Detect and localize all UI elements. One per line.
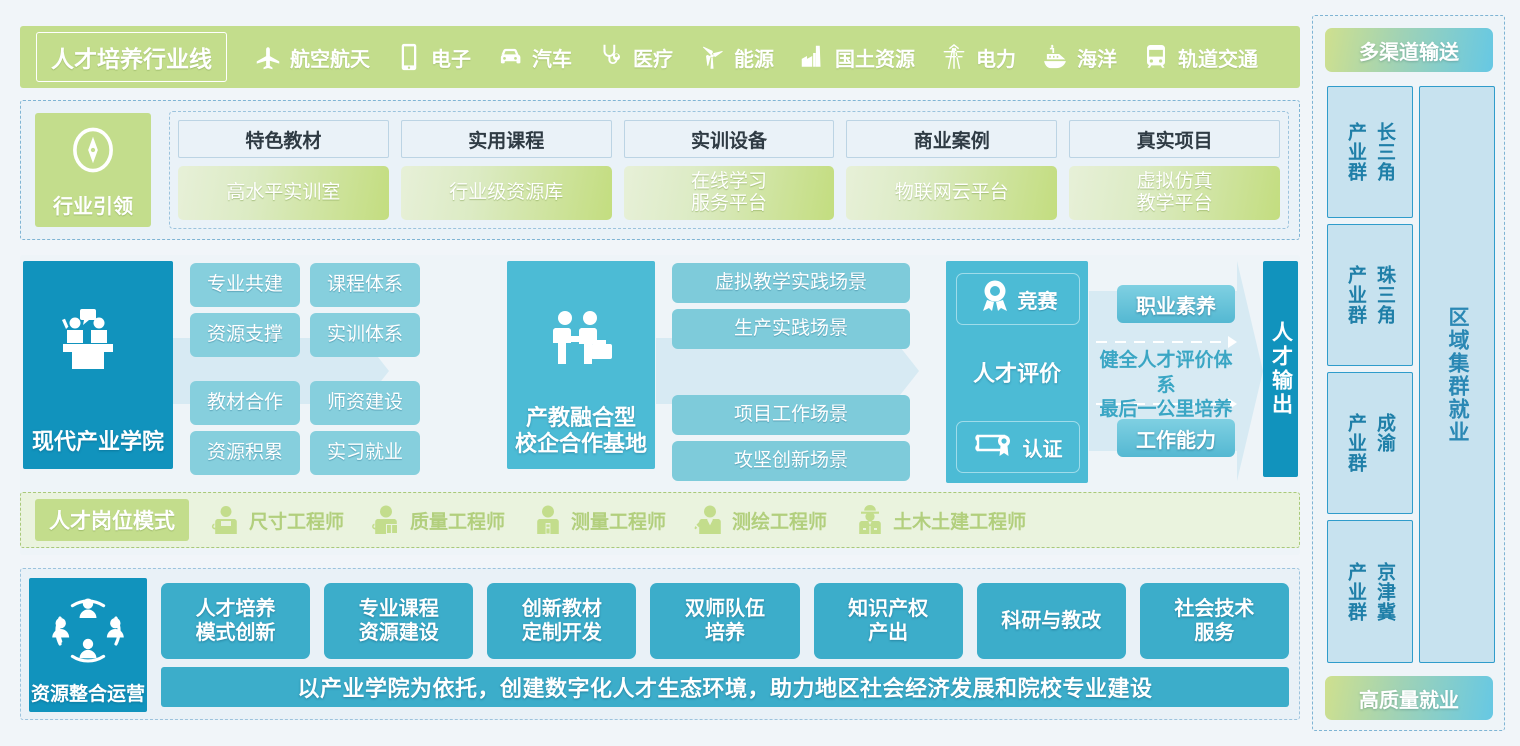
cluster-suffix: 产业群 (1342, 413, 1369, 473)
industry-item-label: 国土资源 (835, 43, 915, 72)
measure-engineer-icon (211, 504, 241, 536)
power-tower-icon (939, 42, 969, 72)
regional-cluster-employment-box[interactable]: 区域集群就业 (1419, 86, 1495, 663)
chip-c1[interactable]: 实训体系 (310, 313, 420, 357)
resource-integration-badge: 资源整合运营 (29, 578, 147, 712)
bottom-card-line2: 培养 (705, 622, 745, 644)
industry-item-aerospace[interactable]: 航空航天 (253, 42, 370, 72)
pillar-integration-base[interactable]: 产教融合型 校企合作基地 (507, 261, 655, 469)
role-item-civil-engineer[interactable]: 土木土建工程师 (855, 504, 1026, 536)
industry-leading-label: 行业引领 (53, 190, 133, 219)
cluster-name: 长三角 (1371, 122, 1398, 182)
eval-box-competition[interactable]: 竞赛 (956, 273, 1080, 325)
bottom-card[interactable]: 人才培养模式创新 (161, 583, 310, 659)
chip-c1[interactable]: 师资建设 (310, 381, 420, 425)
leading-cell[interactable]: 在线学习服务平台 (624, 166, 835, 220)
car-icon (495, 42, 525, 72)
award-medal-icon (979, 279, 1011, 319)
pillar-caption-line1: 产教融合型 (526, 405, 636, 431)
cluster-pearl-delta[interactable]: 珠三角 产业群 (1327, 224, 1413, 366)
dashed-arrow-top (1096, 341, 1230, 343)
chip-c2[interactable]: 攻坚创新场景 (672, 441, 910, 481)
resource-integration-section: 资源整合运营 人才培养模式创新 专业课程资源建设 创新教材定制开发 双师队伍培养… (20, 568, 1300, 720)
industry-item-label: 能源 (734, 43, 774, 72)
civil-engineer-icon (855, 504, 885, 536)
rail-top-pill[interactable]: 多渠道输送 (1325, 28, 1493, 72)
cluster-name: 成渝 (1371, 413, 1398, 473)
chip-c1[interactable]: 专业共建 (190, 263, 300, 307)
industry-item-label: 海洋 (1077, 43, 1117, 72)
cluster-suffix: 产业群 (1342, 562, 1369, 622)
bottom-card[interactable]: 科研与教改 (977, 583, 1126, 659)
leading-cell[interactable]: 高水平实训室 (178, 166, 389, 220)
industry-item-land-resources[interactable]: 国土资源 (798, 42, 915, 72)
bottom-card-line2: 定制开发 (522, 622, 602, 644)
role-label: 尺寸工程师 (249, 507, 344, 534)
pillar-caption-line2: 校企合作基地 (515, 431, 647, 457)
cluster-chengdu-chongqing[interactable]: 成渝 产业群 (1327, 372, 1413, 514)
leading-column: 真实项目 虚拟仿真教学平台 (1069, 120, 1280, 220)
industry-item-marine[interactable]: 海洋 (1040, 42, 1117, 72)
chip-c2[interactable]: 生产实践场景 (672, 309, 910, 349)
pillar-caption: 现代产业学院 (32, 429, 164, 455)
team-network-icon (49, 592, 127, 675)
chip-c1[interactable]: 教材合作 (190, 381, 300, 425)
leading-head: 真实项目 (1069, 120, 1280, 158)
regional-cluster-label: 区域集群就业 (1442, 306, 1472, 444)
bottom-card[interactable]: 双师队伍培养 (650, 583, 799, 659)
leading-head: 特色教材 (178, 120, 389, 158)
bottom-card-line2: 产出 (868, 622, 908, 644)
eval-note-line2: 最后一公里培养 (1092, 398, 1240, 423)
resource-integration-label: 资源整合运营 (31, 679, 145, 706)
ship-icon (1040, 42, 1070, 72)
role-label: 测绘工程师 (732, 507, 827, 534)
bottom-card-line2: 服务 (1194, 622, 1234, 644)
role-label: 测量工程师 (571, 507, 666, 534)
certificate-icon (974, 430, 1016, 464)
bottom-card-line1: 创新教材 (522, 598, 602, 620)
mapping-engineer-icon (694, 504, 724, 536)
industry-leading-section: 行业引领 特色教材 高水平实训室 实用课程 行业级资源库 实训设备 在线学习服务… (20, 100, 1300, 240)
compass-icon (64, 121, 122, 184)
flow-arrow-3-head (1237, 261, 1263, 481)
stethoscope-icon (596, 42, 626, 72)
dashed-arrow-top-tip (1228, 336, 1237, 348)
role-item-quality-engineer[interactable]: 质量工程师 (372, 504, 505, 536)
industry-line-bar: 人才培养行业线 航空航天 电子 汽车 医疗 (20, 26, 1300, 88)
industry-item-label: 医疗 (633, 43, 673, 72)
chip-c2[interactable]: 项目工作场景 (672, 395, 910, 435)
role-label: 土木土建工程师 (893, 507, 1026, 534)
right-rail: 多渠道输送 长三角 产业群 珠三角 产业群 成渝 产业群 京津冀 产业群 (1312, 15, 1505, 731)
rail-bottom-pill[interactable]: 高质量就业 (1325, 676, 1493, 720)
factory-icon (798, 42, 828, 72)
industry-line-title: 人才培养行业线 (36, 32, 227, 82)
bottom-card[interactable]: 知识产权产出 (814, 583, 963, 659)
bottom-card-row: 人才培养模式创新 专业课程资源建设 创新教材定制开发 双师队伍培养 知识产权产出… (161, 583, 1289, 659)
leading-cell[interactable]: 虚拟仿真教学平台 (1069, 166, 1280, 220)
chip-c1[interactable]: 实习就业 (310, 431, 420, 475)
industry-item-label: 电子 (431, 43, 471, 72)
role-item-dimension-engineer[interactable]: 尺寸工程师 (211, 504, 344, 536)
infographic-root: 人才培养行业线 航空航天 电子 汽车 医疗 (0, 0, 1520, 746)
train-icon (1141, 42, 1171, 72)
industry-leading-grid: 特色教材 高水平实训室 实用课程 行业级资源库 实训设备 在线学习服务平台 商业… (169, 111, 1289, 229)
bottom-card-line1: 社会技术 (1174, 598, 1254, 620)
bottom-card[interactable]: 社会技术服务 (1140, 583, 1289, 659)
chip-work-ability[interactable]: 工作能力 (1117, 419, 1235, 457)
industry-item-label: 汽车 (532, 43, 572, 72)
eval-note-line1: 健全人才评价体系 (1092, 349, 1240, 398)
airplane-icon (253, 42, 283, 72)
industry-item-electronics[interactable]: 电子 (394, 42, 471, 72)
chip-c2[interactable]: 虚拟教学实践场景 (672, 263, 910, 303)
bottom-card-line2: 模式创新 (196, 622, 276, 644)
leading-head: 实训设备 (624, 120, 835, 158)
bottom-card-line1: 人才培养 (196, 598, 276, 620)
role-item-survey-engineer[interactable]: 测量工程师 (533, 504, 666, 536)
bottom-card-line1: 专业课程 (359, 598, 439, 620)
pillar-caption: 人才评价 (946, 356, 1088, 388)
cluster-yangtze-delta[interactable]: 长三角 产业群 (1327, 86, 1413, 218)
leading-head: 商业案例 (846, 120, 1057, 158)
industry-item-energy[interactable]: 能源 (697, 42, 774, 72)
leading-column: 实训设备 在线学习服务平台 (624, 120, 835, 220)
bottom-card[interactable]: 创新教材定制开发 (487, 583, 636, 659)
leading-cell[interactable]: 行业级资源库 (401, 166, 612, 220)
role-label: 质量工程师 (410, 507, 505, 534)
leading-cell[interactable]: 物联网云平台 (846, 166, 1057, 220)
bottom-card-line2: 资源建设 (359, 622, 439, 644)
pillar-modern-industry-college[interactable]: 现代产业学院 (23, 261, 173, 469)
leading-head: 实用课程 (401, 120, 612, 158)
leading-column: 实用课程 行业级资源库 (401, 120, 612, 220)
chip-professional-quality[interactable]: 职业素养 (1117, 285, 1235, 323)
cluster-name: 珠三角 (1371, 265, 1398, 325)
roles-title: 人才岗位模式 (35, 499, 189, 541)
eval-box-label: 竞赛 (1018, 285, 1058, 314)
industry-item-label: 航空航天 (290, 43, 370, 72)
teaching-podium-icon (61, 307, 135, 380)
eval-note: 健全人才评价体系 最后一公里培养 (1092, 349, 1240, 423)
wind-turbine-icon (697, 42, 727, 72)
cluster-suffix: 产业群 (1342, 265, 1369, 325)
eval-box-certification[interactable]: 认证 (956, 421, 1080, 473)
leading-column: 商业案例 物联网云平台 (846, 120, 1057, 220)
industry-item-automotive[interactable]: 汽车 (495, 42, 572, 72)
bottom-card-line1: 科研与教改 (1001, 609, 1101, 633)
cluster-suffix: 产业群 (1342, 122, 1369, 182)
smartphone-icon (394, 42, 424, 72)
leading-column: 特色教材 高水平实训室 (178, 120, 389, 220)
industry-item-power[interactable]: 电力 (939, 42, 1016, 72)
cluster-beijing-tianjin-hebei[interactable]: 京津冀 产业群 (1327, 520, 1413, 663)
cluster-name: 京津冀 (1371, 562, 1398, 622)
handshake-icon (546, 309, 616, 380)
pillar-talent-output[interactable]: 人才输出 (1263, 261, 1298, 477)
talent-position-mode-strip: 人才岗位模式 尺寸工程师 质量工程师 测量工程师 测绘工程师 (20, 492, 1300, 548)
pillar-talent-evaluation[interactable]: 竞赛 人才评价 认证 (946, 261, 1088, 483)
chip-c1[interactable]: 资源积累 (190, 431, 300, 475)
survey-engineer-icon (533, 504, 563, 536)
bottom-card-line1: 双师队伍 (685, 598, 765, 620)
chip-c1[interactable]: 课程体系 (310, 263, 420, 307)
industry-leading-badge: 行业引领 (35, 113, 151, 227)
bottom-banner: 以产业学院为依托，创建数字化人才生态环境，助力地区社会经济发展和院校专业建设 (161, 667, 1289, 707)
talent-output-label: 人才输出 (1266, 321, 1296, 417)
eval-box-label: 认证 (1023, 433, 1063, 462)
bottom-card[interactable]: 专业课程资源建设 (324, 583, 473, 659)
industry-item-label: 轨道交通 (1178, 43, 1258, 72)
role-item-mapping-engineer[interactable]: 测绘工程师 (694, 504, 827, 536)
industry-item-label: 电力 (976, 43, 1016, 72)
industry-item-rail-transit[interactable]: 轨道交通 (1141, 42, 1258, 72)
chip-c1[interactable]: 资源支撑 (190, 313, 300, 357)
industry-item-medical[interactable]: 医疗 (596, 42, 673, 72)
bottom-card-line1: 知识产权 (848, 598, 928, 620)
quality-engineer-icon (372, 504, 402, 536)
